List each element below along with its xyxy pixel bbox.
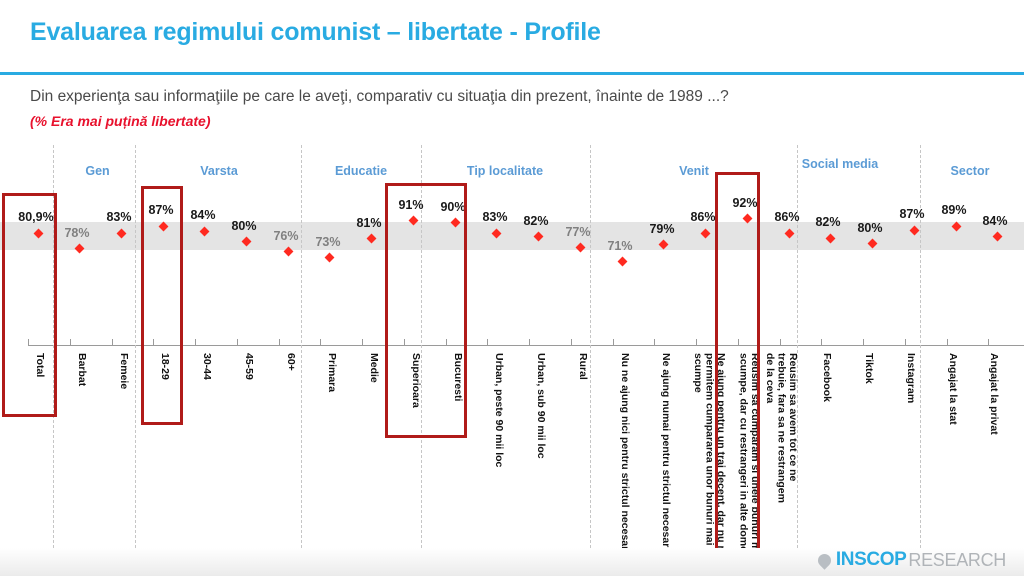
value-label: 79%	[640, 222, 684, 236]
axis-tick	[863, 339, 864, 346]
value-label: 90%	[431, 200, 475, 214]
axis-tick	[821, 339, 822, 346]
value-label: 84%	[973, 214, 1017, 228]
logo-secondary-text: RESEARCH	[908, 550, 1006, 571]
group-divider	[53, 145, 54, 563]
category-label: Urban, sub 90 mii loc	[534, 353, 546, 503]
question-subtitle: (% Era mai puțină libertate)	[30, 113, 210, 129]
value-label: 89%	[932, 203, 976, 217]
axis-tick	[947, 339, 948, 346]
category-label: Medie	[367, 353, 379, 433]
axis-tick	[362, 339, 363, 346]
group-label-educatie: Educatie	[305, 164, 417, 179]
category-label: 30-44	[200, 353, 212, 433]
group-label-varsta: Varsta	[140, 164, 298, 179]
category-label: Rural	[576, 353, 588, 433]
category-label: Nu ne ajung nici pentru strictul necesar	[618, 353, 630, 571]
logo-primary-text: INSCOP	[836, 549, 906, 571]
value-label: 71%	[598, 239, 642, 253]
value-label: 80,9%	[8, 210, 64, 224]
category-label: Reusim sa cumparam si unele bunuri mai s…	[724, 353, 760, 571]
category-label: Ne ajung numai pentru strictul necesar	[659, 353, 671, 571]
value-label: 78%	[55, 226, 99, 240]
category-label: Femeie	[117, 353, 129, 433]
chart-plot-area: Gen Varsta Educatie Tip localitate Venit…	[0, 140, 1024, 576]
axis-tick	[279, 339, 280, 346]
page-title: Evaluarea regimului comunist – libertate…	[30, 18, 601, 47]
axis-tick	[571, 339, 572, 346]
category-label: Instagram	[904, 353, 916, 433]
axis-tick	[112, 339, 113, 346]
group-label-tip-localitate: Tip localitate	[424, 164, 586, 179]
group-divider	[590, 145, 591, 563]
axis-tick	[529, 339, 530, 346]
axis-tick	[780, 339, 781, 346]
footer-strip: INSCOP RESEARCH	[0, 548, 1024, 576]
group-label-social-media: Social media	[800, 157, 880, 172]
category-label: 18-29	[158, 353, 170, 433]
value-label: 77%	[556, 225, 600, 239]
category-label: Facebook	[820, 353, 832, 433]
value-label: 87%	[139, 203, 183, 217]
value-label: 80%	[848, 221, 892, 235]
axis-tick	[237, 339, 238, 346]
group-divider	[135, 145, 136, 563]
category-label: Barbat	[75, 353, 87, 433]
category-label: Ne ajung pentru un trai decent, dar nu n…	[690, 353, 726, 571]
value-label: 84%	[181, 208, 225, 222]
value-label: 82%	[514, 214, 558, 228]
value-label: 83%	[473, 210, 517, 224]
value-label: 83%	[97, 210, 141, 224]
logo-drop-icon	[815, 551, 833, 569]
category-label: Angajat la privat	[987, 353, 999, 448]
group-divider	[301, 145, 302, 563]
data-point[interactable]	[325, 253, 335, 263]
category-axis-line	[28, 345, 1024, 346]
value-label: 91%	[389, 198, 433, 212]
value-label: 73%	[306, 235, 350, 249]
axis-tick	[487, 339, 488, 346]
value-label: 86%	[681, 210, 725, 224]
axis-tick	[613, 339, 614, 346]
category-label: Reusim sa avem tot ce ne trebuie, fara s…	[774, 353, 798, 513]
axis-tick	[70, 339, 71, 346]
axis-tick	[738, 339, 739, 346]
category-label: Urban, peste 90 mii loc	[492, 353, 504, 503]
axis-tick	[988, 339, 989, 346]
value-label: 82%	[806, 215, 850, 229]
title-divider	[0, 72, 1024, 75]
category-label: Total	[33, 353, 45, 433]
group-label-gen: Gen	[60, 164, 135, 179]
inscop-logo: INSCOP RESEARCH	[818, 549, 1006, 571]
category-label: Tiktok	[862, 353, 874, 433]
category-label: 60+	[284, 353, 296, 433]
data-point[interactable]	[618, 257, 628, 267]
group-label-venit: Venit	[594, 164, 794, 179]
axis-tick	[905, 339, 906, 346]
category-label: 45-59	[242, 353, 254, 433]
value-label: 87%	[890, 207, 934, 221]
axis-tick	[404, 339, 405, 346]
axis-tick	[153, 339, 154, 346]
axis-tick	[195, 339, 196, 346]
axis-tick	[28, 339, 29, 346]
category-label: Primara	[325, 353, 337, 433]
value-label: 92%	[723, 196, 767, 210]
value-label: 81%	[347, 216, 391, 230]
category-label: Angajat la stat	[946, 353, 958, 443]
axis-tick	[654, 339, 655, 346]
group-label-sector: Sector	[924, 164, 1016, 179]
axis-tick	[446, 339, 447, 346]
question-text: Din experienţa sau informaţiile pe care …	[30, 88, 729, 106]
category-label: Superioara	[409, 353, 421, 443]
axis-tick	[320, 339, 321, 346]
value-label: 86%	[765, 210, 809, 224]
axis-tick	[696, 339, 697, 346]
value-label: 80%	[222, 219, 266, 233]
category-label: Bucuresti	[451, 353, 463, 443]
value-label: 76%	[264, 229, 308, 243]
